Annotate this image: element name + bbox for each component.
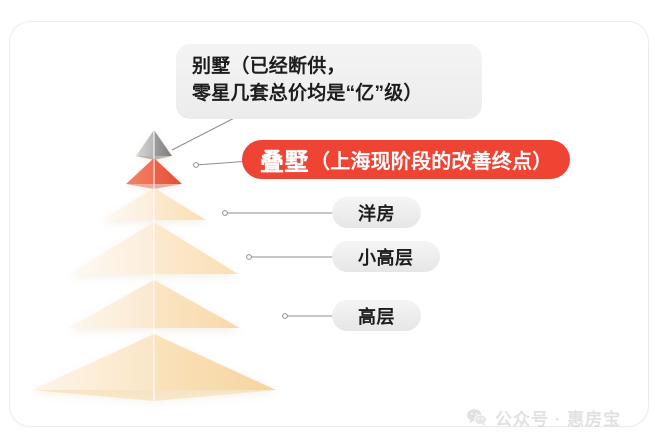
tier-label-xiaogaoceng-text: 小高层 [358,244,414,270]
villa-caption-line-1: 别墅（已经断供， [192,54,468,81]
villa-caption-line-2: 零星几套总价均是“亿”级） [192,81,468,108]
watermark-text: 公众号 · 惠房宝 [495,405,621,430]
screenshot-stage: 别墅（已经断供， 零星几套总价均是“亿”级） 叠墅 （上海现阶段的改善终点） 洋… [0,0,660,448]
tier-label-yangfang: 洋房 [332,197,421,228]
stacked-villa-badge-strong: 叠墅 [260,142,309,177]
tier-label-yangfang-text: 洋房 [358,200,395,226]
watermark: 公众号 · 惠房宝 [466,405,621,430]
tier-label-gaoceng: 高层 [332,300,421,331]
stacked-villa-badge: 叠墅 （上海现阶段的改善终点） [242,140,570,179]
villa-caption-box: 别墅（已经断供， 零星几套总价均是“亿”级） [176,44,482,119]
tier-label-gaoceng-text: 高层 [358,303,395,329]
tier-label-xiaogaoceng: 小高层 [332,241,440,272]
wechat-icon [466,408,488,427]
stacked-villa-badge-rest: （上海现阶段的改善终点） [310,145,552,174]
